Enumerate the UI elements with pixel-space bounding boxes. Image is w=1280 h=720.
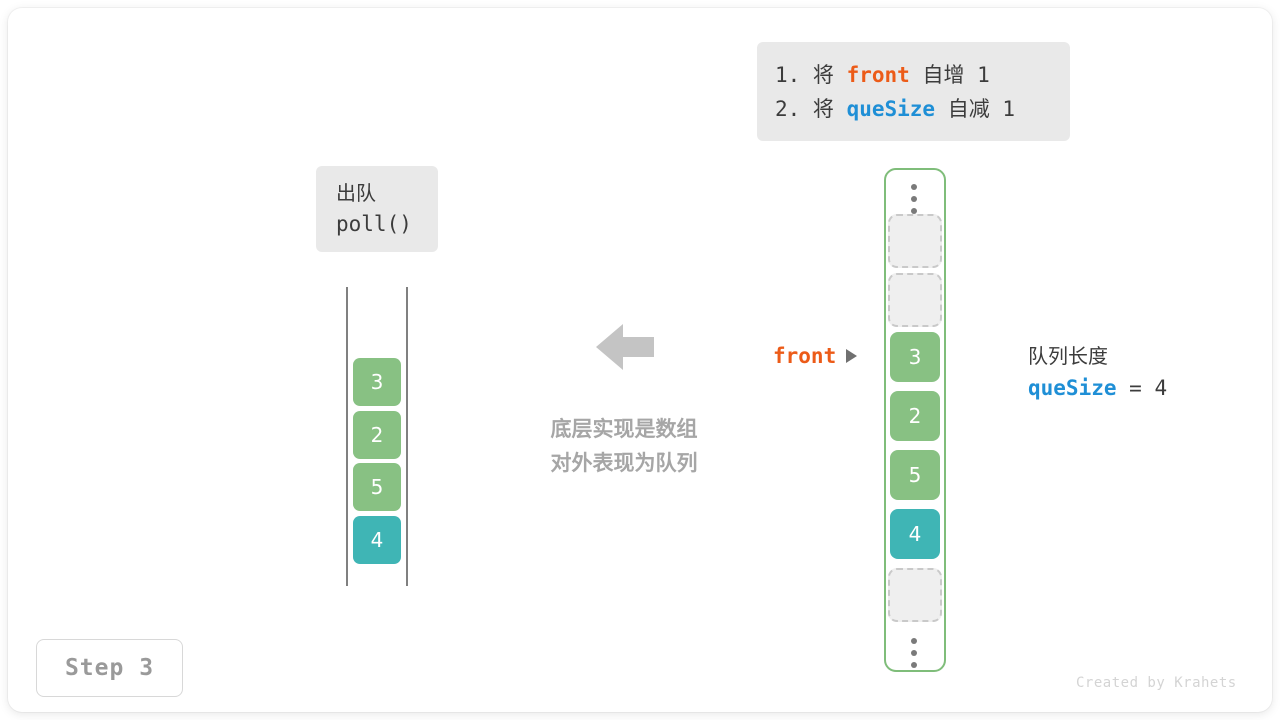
instruction-line-1-keyword: front	[847, 63, 910, 87]
left-arrow-icon	[596, 322, 654, 372]
center-caption-line-1: 底层实现是数组	[528, 412, 720, 446]
array-cell-empty	[888, 273, 942, 327]
instruction-line-2: 2. 将 queSize 自减 1	[757, 92, 1070, 126]
array-cell-value: 3	[909, 345, 922, 369]
array-cell: 3	[890, 332, 940, 382]
array-cell: 2	[890, 391, 940, 441]
vertical-ellipsis-top-icon	[911, 184, 919, 214]
operation-label-box: 出队 poll()	[316, 166, 438, 252]
step-badge-label: Step 3	[65, 655, 154, 681]
queue-size-equals: =	[1117, 376, 1155, 400]
center-caption-line-2: 对外表现为队列	[528, 446, 720, 480]
queue-cell-value: 3	[371, 370, 384, 394]
array-container: 3 2 5 4	[884, 168, 946, 672]
abstract-queue-container: 3 2 5 4	[346, 287, 408, 586]
diagram-canvas: 1. 将 front 自增 1 2. 将 queSize 自减 1 出队 pol…	[0, 0, 1280, 720]
queue-cell: 5	[353, 463, 401, 511]
operation-method: poll()	[336, 208, 438, 240]
instruction-line-1-suffix: 自增 1	[910, 63, 990, 87]
queue-cell: 3	[353, 358, 401, 406]
queue-cell-value: 2	[371, 423, 384, 447]
instruction-box: 1. 将 front 自增 1 2. 将 queSize 自减 1	[757, 42, 1070, 141]
array-cell-value: 5	[909, 463, 922, 487]
credit-text: Created by Krahets	[1076, 675, 1237, 691]
instruction-line-2-suffix: 自减 1	[935, 97, 1015, 121]
queue-size-value: 4	[1154, 376, 1167, 400]
queue-size-variable: queSize	[1028, 376, 1117, 400]
queue-cell: 4	[353, 516, 401, 564]
queue-cell-value: 5	[371, 475, 384, 499]
queue-cell-value: 4	[371, 528, 384, 552]
array-cell-empty	[888, 214, 942, 268]
queue-size-title: 队列长度	[1028, 341, 1258, 371]
center-caption: 底层实现是数组 对外表现为队列	[528, 412, 720, 480]
front-pointer-arrowhead-icon	[846, 349, 857, 363]
array-cell: 5	[890, 450, 940, 500]
array-cell-value: 4	[909, 522, 922, 546]
instruction-line-1: 1. 将 front 自增 1	[757, 58, 1070, 92]
array-cell-value: 2	[909, 404, 922, 428]
operation-title: 出队	[336, 178, 438, 208]
step-badge: Step 3	[36, 639, 183, 697]
array-cell: 4	[890, 509, 940, 559]
queue-cell: 2	[353, 411, 401, 459]
array-cell-empty	[888, 568, 942, 622]
front-pointer-label: front	[773, 344, 857, 368]
instruction-line-2-keyword: queSize	[847, 97, 936, 121]
queue-rail-right	[406, 287, 408, 586]
queue-rail-left	[346, 287, 348, 586]
queue-size-annotation: 队列长度 queSize = 4	[1028, 341, 1258, 405]
instruction-line-2-prefix: 2. 将	[775, 97, 847, 121]
vertical-ellipsis-bottom-icon	[911, 638, 919, 668]
front-pointer-text: front	[773, 344, 836, 368]
instruction-line-1-prefix: 1. 将	[775, 63, 847, 87]
queue-size-expression: queSize = 4	[1028, 371, 1258, 405]
